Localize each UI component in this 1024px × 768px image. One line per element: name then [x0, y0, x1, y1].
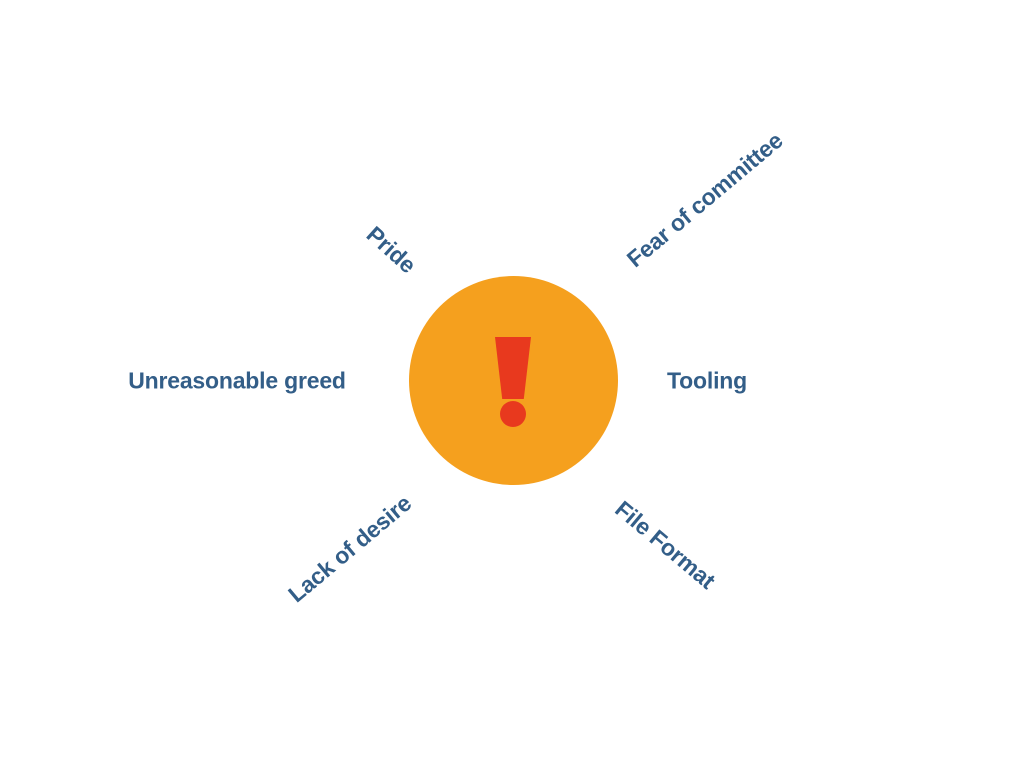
spoke-label-unreasonable-greed[interactable]: Unreasonable greed [128, 370, 346, 393]
spoke-label-tooling[interactable]: Tooling [667, 370, 747, 393]
spoke-label-file-format[interactable]: File Format [611, 497, 719, 593]
spoke-label-fear-of-committee[interactable]: Fear of committee [623, 129, 787, 272]
exclamation-mark-icon-dot [500, 401, 526, 427]
spoke-label-lack-of-desire[interactable]: Lack of desire [284, 491, 415, 606]
spoke-label-pride[interactable]: Pride [362, 223, 419, 278]
diagram-canvas: Fear of committee Pride Unreasonable gre… [0, 0, 1024, 768]
